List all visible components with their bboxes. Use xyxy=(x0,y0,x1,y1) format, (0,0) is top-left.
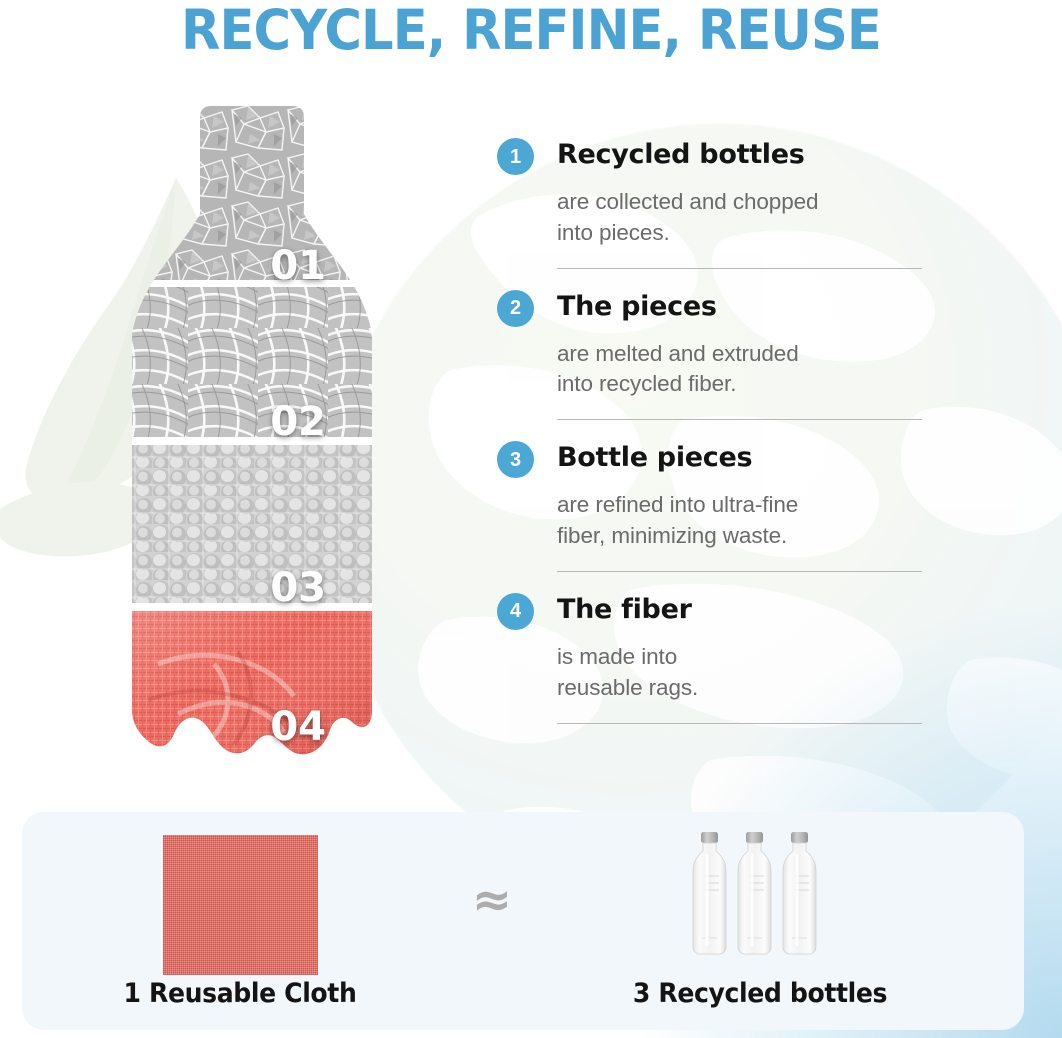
bottle-segment-number-02: 02 xyxy=(270,399,326,445)
step-3-divider xyxy=(557,571,922,572)
step-2-number-badge: 2 xyxy=(497,290,534,327)
infographic-root: RECYCLE, REFINE, REUSE xyxy=(0,0,1062,1038)
recycled-bottle-2 xyxy=(738,832,771,954)
step-4-body: is made into reusable rags. xyxy=(557,642,922,704)
step-1-body: are collected and chopped into pieces. xyxy=(557,187,922,249)
step-item-3: 3 Bottle pieces are refined into ultra-f… xyxy=(497,443,922,572)
comparison-right-label: 3 Recycled bottles xyxy=(537,978,983,1009)
step-3-heading: Bottle pieces xyxy=(557,443,752,473)
step-1-divider xyxy=(557,268,922,269)
step-1-head: 1 Recycled bottles xyxy=(497,140,922,175)
step-4-divider xyxy=(557,723,922,724)
bottle-segment-number-01: 01 xyxy=(270,243,326,289)
step-4-number-badge: 4 xyxy=(497,593,534,630)
step-item-4: 4 The fiber is made into reusable rags. xyxy=(497,595,922,724)
step-2-heading: The pieces xyxy=(557,292,717,322)
comparison-left-label: 1 Reusable Cloth xyxy=(17,978,463,1009)
steps-list: 1 Recycled bottles are collected and cho… xyxy=(497,140,922,724)
step-1-number-badge: 1 xyxy=(497,138,534,175)
recycling-bottle-illustration: 01 02 03 04 xyxy=(118,104,386,784)
recycled-bottle-1 xyxy=(693,832,726,954)
step-2-body: are melted and extruded into recycled fi… xyxy=(557,339,922,401)
step-2-divider xyxy=(557,419,922,420)
step-item-2: 2 The pieces are melted and extruded int… xyxy=(497,292,922,421)
recycled-bottle-3 xyxy=(783,832,816,954)
step-3-number-badge: 3 xyxy=(497,441,534,478)
step-3-body: are refined into ultra-fine fiber, minim… xyxy=(557,490,922,552)
bottle-svg: 01 02 03 04 xyxy=(118,104,386,784)
bottle-segment-number-03: 03 xyxy=(270,565,326,611)
recycled-bottles-group-icon xyxy=(688,828,833,968)
reusable-cloth-swatch xyxy=(163,835,318,975)
step-item-1: 1 Recycled bottles are collected and cho… xyxy=(497,140,922,269)
step-1-heading: Recycled bottles xyxy=(557,140,805,170)
bottle-segment-number-04: 04 xyxy=(270,704,326,750)
approximately-equal-icon: ≈ xyxy=(462,876,522,924)
step-2-head: 2 The pieces xyxy=(497,292,922,327)
step-4-heading: The fiber xyxy=(557,595,692,625)
step-3-head: 3 Bottle pieces xyxy=(497,443,922,478)
step-4-head: 4 The fiber xyxy=(497,595,922,630)
page-title: RECYCLE, REFINE, REUSE xyxy=(37,0,1025,62)
